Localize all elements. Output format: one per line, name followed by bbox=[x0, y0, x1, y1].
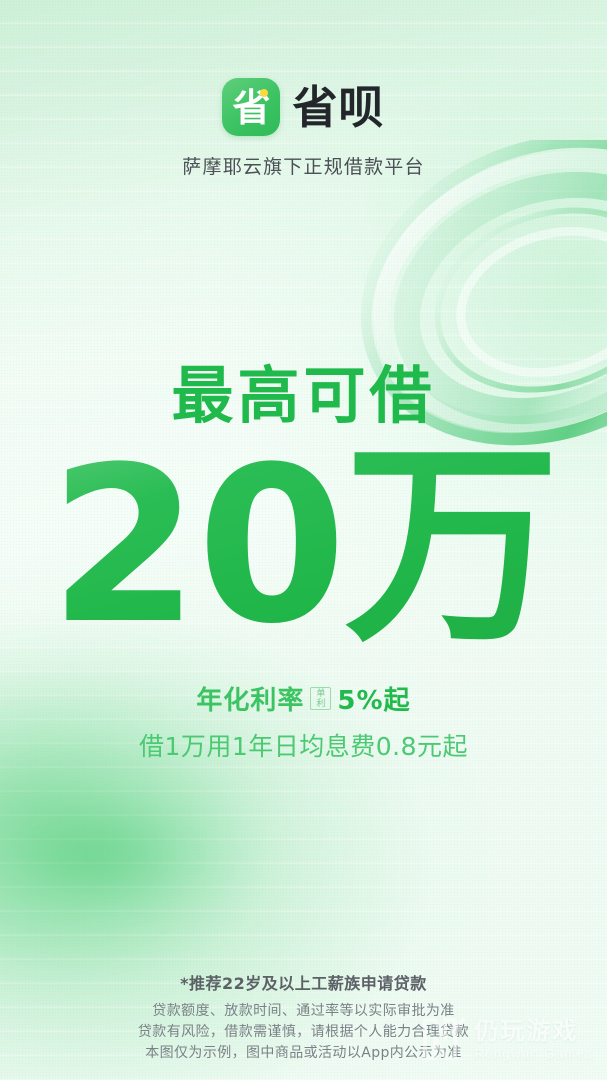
annual-rate-value: 5%起 bbox=[337, 680, 410, 717]
footer-line: 贷款有风险，借款需谨慎，请根据个人能力合理贷款 bbox=[0, 1022, 607, 1043]
footer-line: 贷款额度、放款时间、通过率等以实际审批为准 bbox=[0, 1001, 607, 1022]
annual-rate-line: 年化利率 单 利 5%起 bbox=[0, 680, 607, 717]
promo-poster: 省 省呗 萨摩耶云旗下正规借款平台 最高可借 20万 年化利率 单 利 5%起 … bbox=[0, 0, 607, 1080]
simple-interest-badge: 单 利 bbox=[310, 687, 331, 710]
footer-highlight: *推荐22岁及以上工薪族申请贷款 bbox=[0, 970, 607, 994]
simple-interest-badge-line2: 利 bbox=[316, 699, 325, 709]
footer-line: 本图仅为示例，图中商品或活动以App内公示为准 bbox=[0, 1043, 607, 1064]
brand-header: 省 省呗 bbox=[0, 78, 607, 136]
daily-interest-note: 借1万用1年日均息费0.8元起 bbox=[0, 727, 607, 763]
footer-disclaimer: *推荐22岁及以上工薪族申请贷款 贷款额度、放款时间、通过率等以实际审批为准 贷… bbox=[0, 970, 607, 1064]
hero-amount: 20万 bbox=[0, 438, 607, 653]
brand-wordmark: 省呗 bbox=[292, 85, 384, 130]
annual-rate-prefix: 年化利率 bbox=[196, 680, 304, 717]
brand-subtitle: 萨摩耶云旗下正规借款平台 bbox=[0, 152, 607, 179]
hero-headline: 最高可借 bbox=[0, 365, 607, 427]
app-logo-icon: 省 bbox=[222, 78, 280, 136]
simple-interest-badge-line1: 单 bbox=[316, 689, 325, 699]
bottom-left-glow-inner bbox=[0, 780, 260, 930]
